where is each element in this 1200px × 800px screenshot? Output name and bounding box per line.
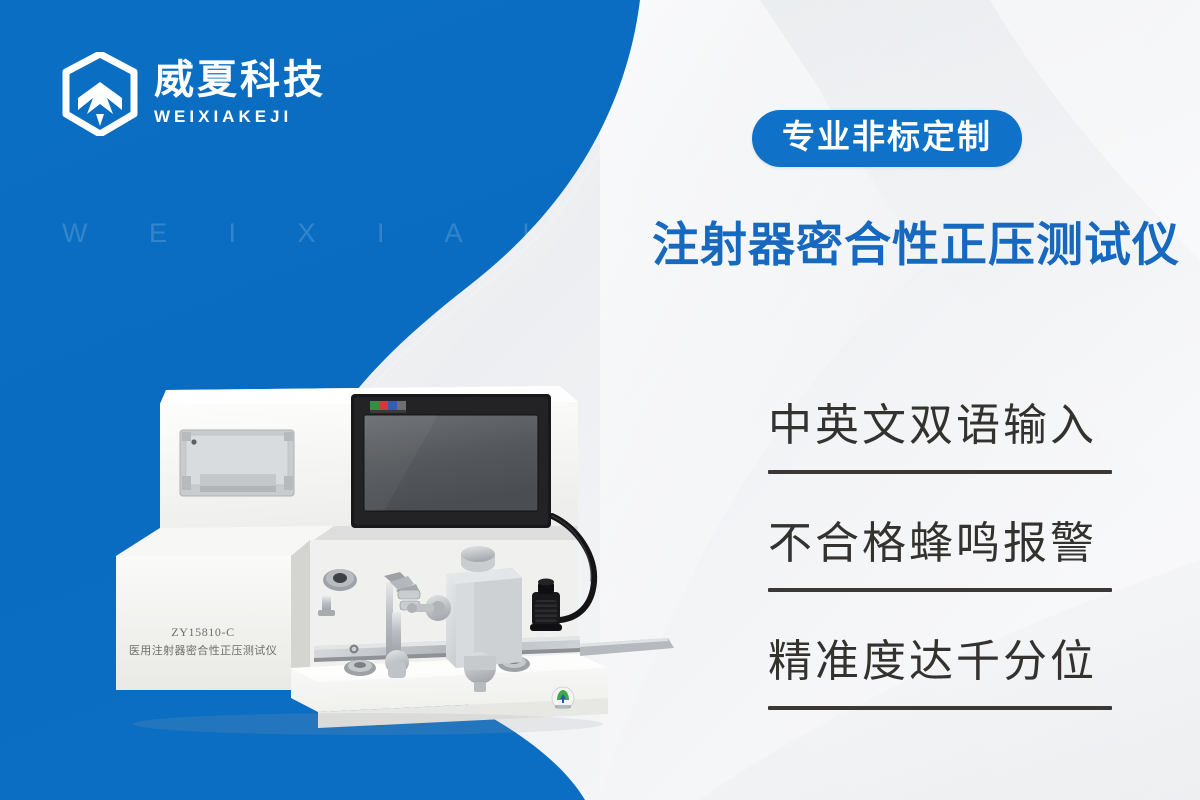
- brand-name-en: WEIXIAKEJI: [154, 105, 326, 129]
- feature-label: 中英文双语输入: [768, 404, 1114, 470]
- feature-label: 精准度达千分位: [768, 640, 1114, 706]
- product-model-code: ZY15810-C: [171, 625, 234, 639]
- status-badge: 专业非标定制: [752, 110, 1022, 167]
- product-banner: 威夏科技 WEIXIAKEJI W E I X I A K E J I 专业非标…: [0, 0, 1200, 800]
- list-item: 精准度达千分位: [768, 640, 1114, 710]
- divider: [768, 470, 1112, 474]
- certification-badge-icon: [552, 687, 574, 709]
- hmi-touchscreen: [351, 394, 551, 528]
- feature-label: 不合格蜂鸣报警: [768, 522, 1114, 588]
- list-item: 中英文双语输入: [768, 404, 1114, 474]
- access-panel: [180, 430, 294, 496]
- page-title: 注射器密合性正压测试仪: [652, 206, 1180, 275]
- divider: [768, 706, 1112, 710]
- product-model-name: 医用注射器密合性正压测试仪: [129, 643, 277, 657]
- divider: [768, 588, 1112, 592]
- hmi-brand-logo-icon: [370, 401, 406, 413]
- list-item: 不合格蜂鸣报警: [768, 522, 1114, 592]
- product-photo: ZY15810-C 医用注射器密合性正压测试仪: [108, 368, 688, 740]
- feature-list: 中英文双语输入 不合格蜂鸣报警 精准度达千分位: [768, 404, 1114, 758]
- brand-name-cn: 威夏科技: [154, 59, 326, 102]
- hexagon-arrow-logo-icon: [62, 52, 138, 136]
- brand-logo: 威夏科技 WEIXIAKEJI: [62, 52, 326, 136]
- badge-label: 专业非标定制: [782, 119, 992, 155]
